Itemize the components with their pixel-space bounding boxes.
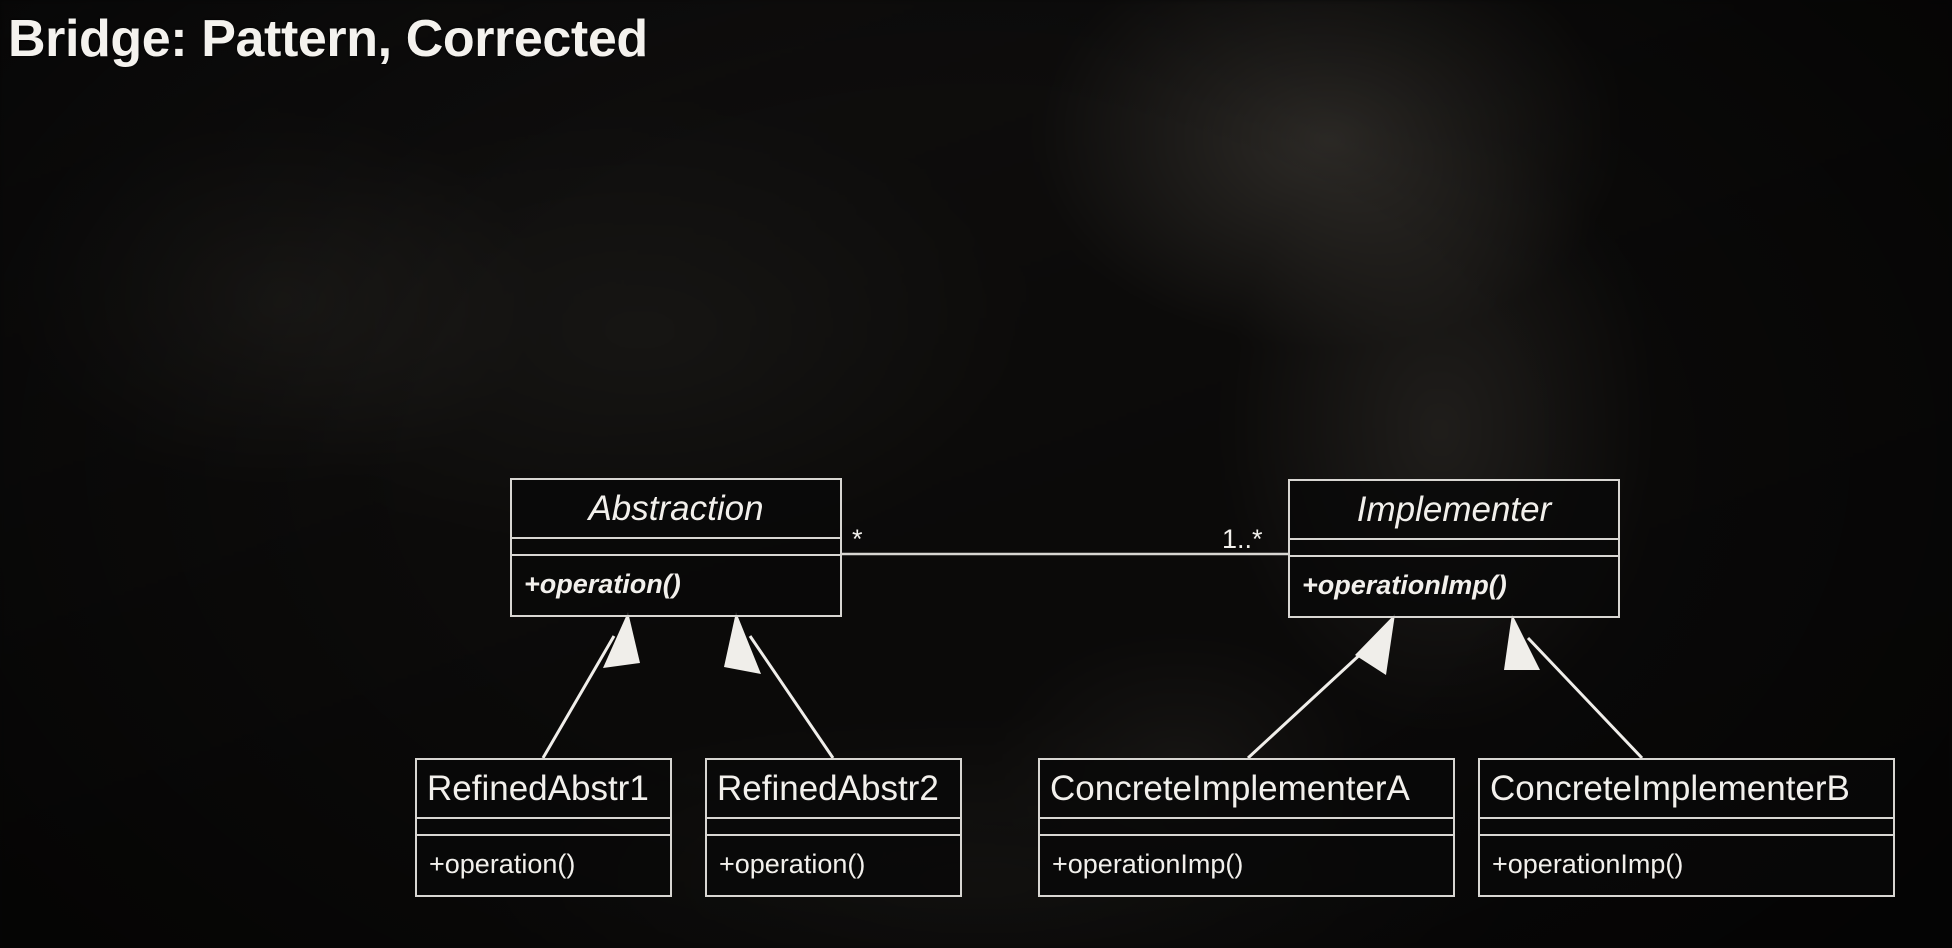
uml-operation-refined-abstr-1: +operation()	[417, 836, 670, 893]
uml-attributes-implementer	[1290, 538, 1618, 557]
uml-class-concrete-implementer-b[interactable]: ConcreteImplementerB +operationImp()	[1478, 758, 1895, 897]
uml-class-concrete-implementer-a[interactable]: ConcreteImplementerA +operationImp()	[1038, 758, 1455, 897]
uml-class-name-implementer: Implementer	[1290, 481, 1618, 538]
uml-class-refined-abstr-2[interactable]: RefinedAbstr2 +operation()	[705, 758, 962, 897]
uml-operation-abstraction: +operation()	[512, 556, 840, 613]
uml-attributes-abstraction	[512, 537, 840, 556]
multiplicity-source-abstraction: *	[852, 524, 863, 555]
multiplicity-target-implementer: 1..*	[1222, 524, 1263, 555]
uml-class-name-refined-abstr-1: RefinedAbstr1	[417, 760, 670, 817]
uml-operation-concrete-implementer-a: +operationImp()	[1040, 836, 1453, 893]
uml-operation-refined-abstr-2: +operation()	[707, 836, 960, 893]
generalization-arrowhead-concrete-implementer-a	[1355, 614, 1395, 675]
uml-class-name-concrete-implementer-b: ConcreteImplementerB	[1480, 760, 1893, 817]
generalization-line-refined-abstr-1	[543, 636, 614, 758]
uml-class-diagram: * 1..* Abstraction +operation() Implemen…	[0, 0, 1952, 948]
slide: Bridge: Pattern, Corrected * 1..* Abstra…	[0, 0, 1952, 948]
uml-class-abstraction[interactable]: Abstraction +operation()	[510, 478, 842, 617]
uml-attributes-concrete-implementer-b	[1480, 817, 1893, 836]
uml-class-name-refined-abstr-2: RefinedAbstr2	[707, 760, 960, 817]
generalization-line-concrete-implementer-b	[1528, 638, 1642, 758]
uml-attributes-refined-abstr-1	[417, 817, 670, 836]
uml-operation-implementer: +operationImp()	[1290, 557, 1618, 614]
uml-class-name-abstraction: Abstraction	[512, 480, 840, 537]
uml-class-refined-abstr-1[interactable]: RefinedAbstr1 +operation()	[415, 758, 672, 897]
generalization-arrowhead-refined-abstr-1	[603, 612, 640, 668]
generalization-line-refined-abstr-2	[750, 636, 833, 758]
uml-class-implementer[interactable]: Implementer +operationImp()	[1288, 479, 1620, 618]
uml-attributes-refined-abstr-2	[707, 817, 960, 836]
uml-class-name-concrete-implementer-a: ConcreteImplementerA	[1040, 760, 1453, 817]
uml-attributes-concrete-implementer-a	[1040, 817, 1453, 836]
generalization-arrowhead-concrete-implementer-b	[1504, 614, 1540, 670]
uml-operation-concrete-implementer-b: +operationImp()	[1480, 836, 1893, 893]
